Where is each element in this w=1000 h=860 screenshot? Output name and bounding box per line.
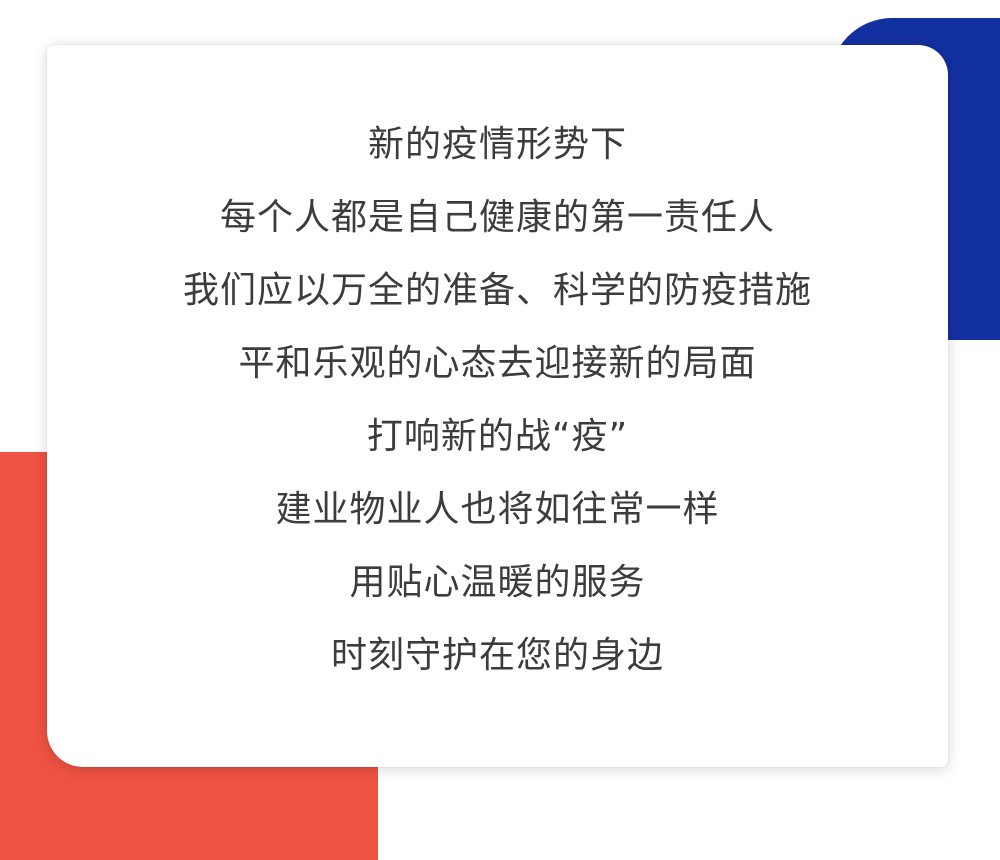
message-text-block: 新的疫情形势下 每个人都是自己健康的第一责任人 我们应以万全的准备、科学的防疫措… [47,108,948,692]
poster-line-1: 新的疫情形势下 [47,108,948,181]
poster-line-3: 我们应以万全的准备、科学的防疫措施 [47,254,948,327]
poster-line-7: 用贴心温暖的服务 [47,546,948,619]
message-card: 新的疫情形势下 每个人都是自己健康的第一责任人 我们应以万全的准备、科学的防疫措… [47,45,948,767]
poster-line-5: 打响新的战“疫” [47,400,948,473]
poster-canvas: 新的疫情形势下 每个人都是自己健康的第一责任人 我们应以万全的准备、科学的防疫措… [0,0,1000,860]
poster-line-2: 每个人都是自己健康的第一责任人 [47,181,948,254]
poster-line-6: 建业物业人也将如往常一样 [47,473,948,546]
poster-line-4: 平和乐观的心态去迎接新的局面 [47,327,948,400]
poster-line-8: 时刻守护在您的身边 [47,619,948,692]
